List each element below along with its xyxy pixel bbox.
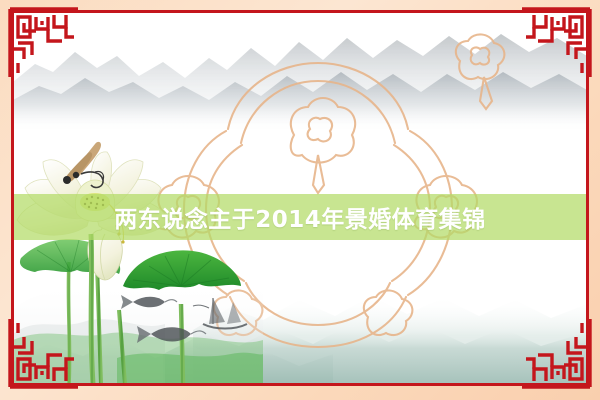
corner-fret-top-left	[8, 7, 80, 79]
ink-bird	[57, 130, 119, 192]
poster-title: 两东说念主于2014年景婚体育集锦	[114, 200, 486, 234]
corner-fret-top-right	[520, 7, 592, 79]
corner-fret-bottom-left	[8, 317, 80, 389]
frame-rule-top	[11, 10, 589, 13]
frame-rule-bottom	[11, 383, 589, 386]
poster-inner-scene: 两东说念主于2014年景婚体育集锦	[13, 12, 587, 384]
corner-fret-bottom-right	[520, 317, 592, 389]
title-banner: 两东说念主于2014年景婚体育集锦	[13, 194, 587, 240]
poster-canvas: 两东说念主于2014年景婚体育集锦	[0, 0, 600, 400]
